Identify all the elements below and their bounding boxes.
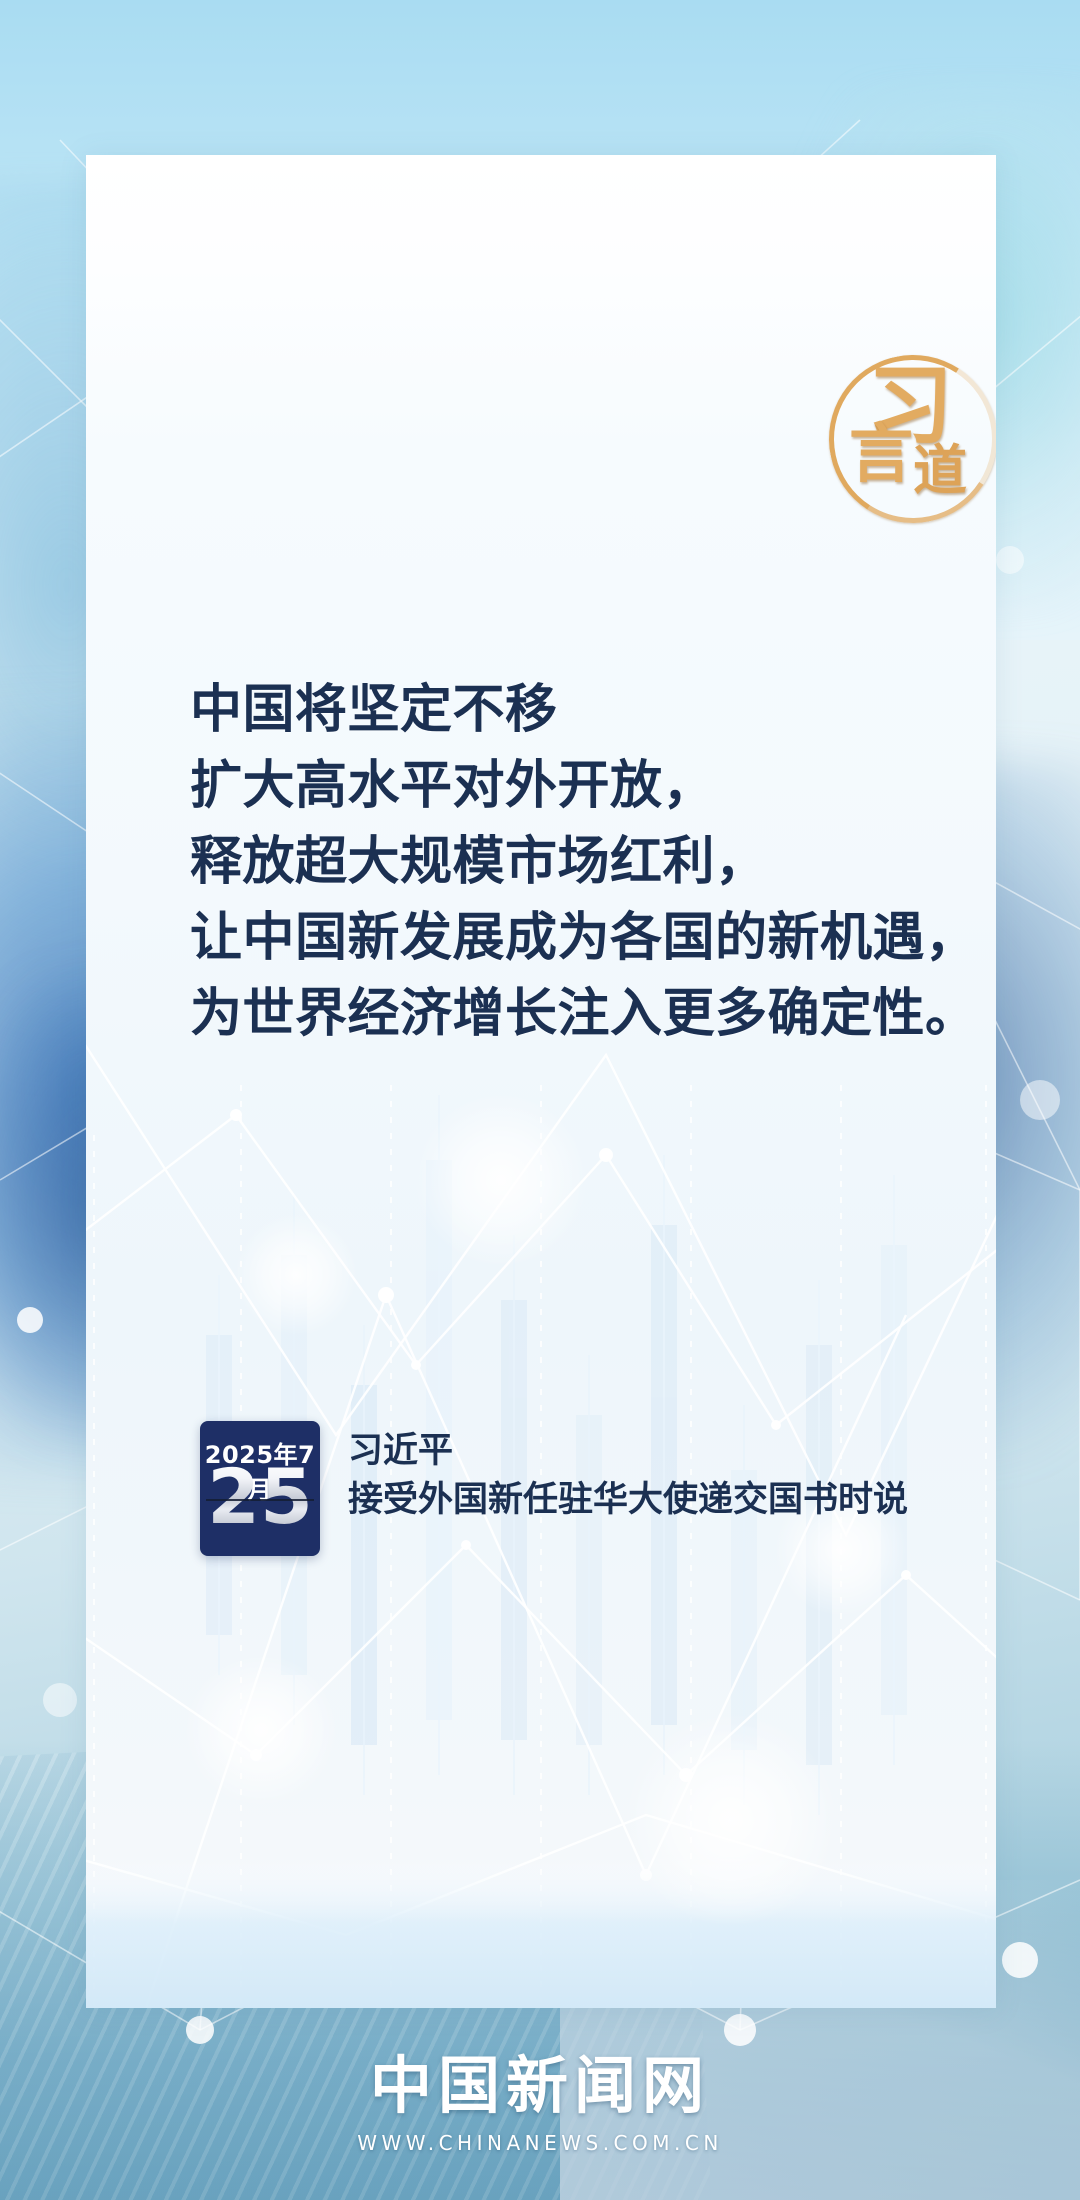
attribution-text: 习近平 接受外国新任驻华大使递交国书时说 <box>348 1421 908 1525</box>
speaker-name: 习近平 <box>348 1427 908 1475</box>
seal-glyph-group: 习 言 道 <box>821 345 996 525</box>
card-light-bloom-4 <box>186 1655 336 1805</box>
quote-line-1: 中国将坚定不移 <box>190 672 890 748</box>
card-light-bloom-2 <box>236 1215 356 1335</box>
site-footer: 中国新闻网 WWW.CHINANEWS.COM.CN <box>0 2055 1080 2155</box>
attribution-block: 2025年7月 25 习近平 接受外国新任驻华大使递交国书时说 <box>200 1421 908 1556</box>
quote-line-3: 释放超大规模市场红利， <box>190 824 890 900</box>
chinanews-brand-logo: 中国新闻网 <box>0 2055 1080 2117</box>
chinanews-url: WWW.CHINANEWS.COM.CN <box>0 2131 1080 2155</box>
date-badge-divider <box>206 1499 314 1501</box>
poster-card: 习 言 道 中国将坚定不移 扩大高水平对外开放， 释放超大规模市场红利， 让中国… <box>86 155 996 2008</box>
quote-block: 中国将坚定不移 扩大高水平对外开放， 释放超大规模市场红利， 让中国新发展成为各… <box>190 672 890 1052</box>
quote-line-5: 为世界经济增长注入更多确定性。 <box>190 976 890 1052</box>
quote-line-2: 扩大高水平对外开放， <box>190 748 890 824</box>
xi-yan-dao-seal-logo: 习 言 道 <box>821 345 996 525</box>
date-badge-day: 25 <box>200 1459 320 1535</box>
seal-char-dao: 道 <box>913 443 967 497</box>
seal-char-yan: 言 <box>849 423 913 487</box>
card-light-bloom-1 <box>416 1095 586 1265</box>
date-badge: 2025年7月 25 <box>200 1421 320 1556</box>
card-light-bloom-3 <box>626 1715 836 1925</box>
quote-line-4: 让中国新发展成为各国的新机遇， <box>190 900 890 976</box>
speech-occasion: 接受外国新任驻华大使递交国书时说 <box>348 1475 908 1525</box>
